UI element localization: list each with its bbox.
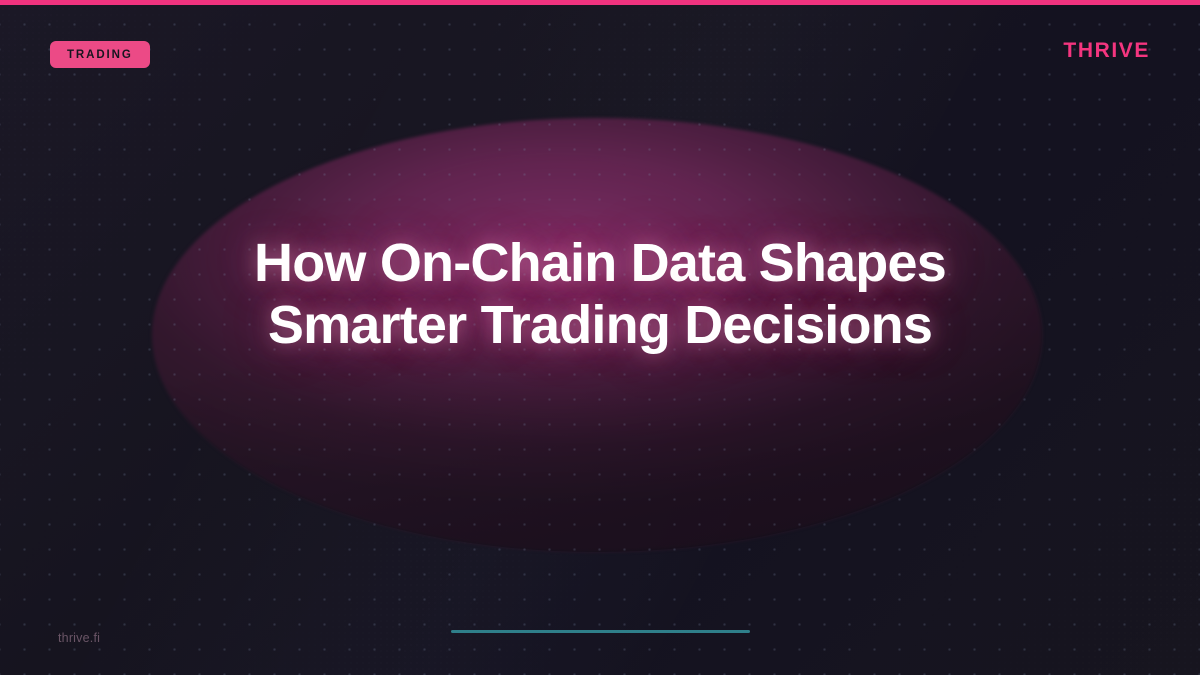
brand-wordmark-thrive[interactable]: THRIVE [1063,39,1150,63]
page-title: How On-Chain Data Shapes Smarter Trading… [0,232,1200,356]
page-title-line-2: Smarter Trading Decisions [120,294,1080,356]
site-url-label[interactable]: thrive.fi [58,631,100,645]
category-badge-trading[interactable]: TRADING [50,41,150,68]
social-share-card: TRADING THRIVE How On-Chain Data Shapes … [0,0,1200,675]
page-title-line-1: How On-Chain Data Shapes [120,232,1080,294]
top-accent-bar [0,0,1200,5]
teal-accent-rule [451,630,750,633]
